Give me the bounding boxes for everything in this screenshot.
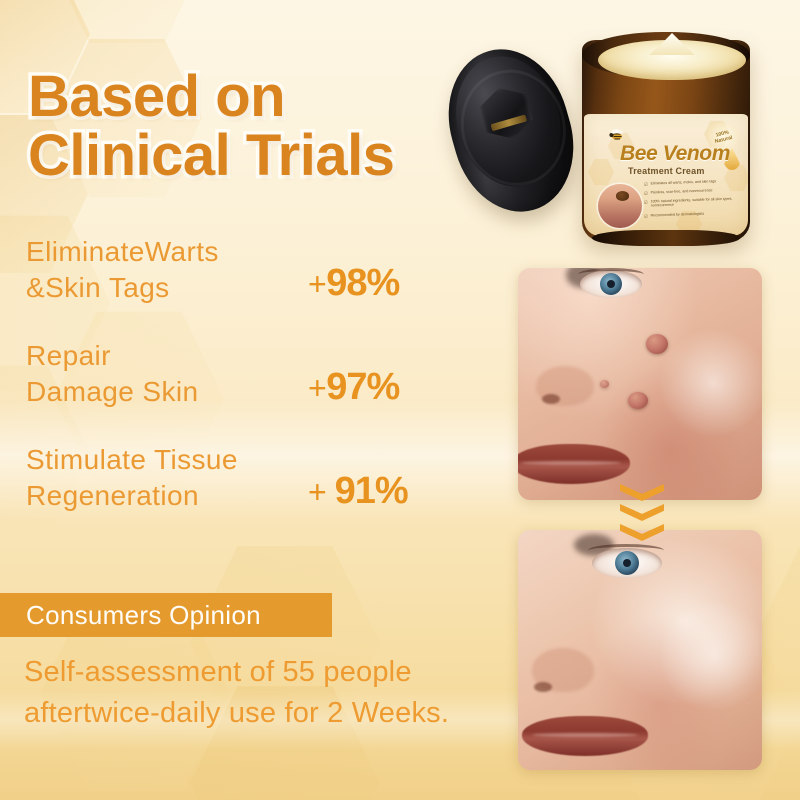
before-treatment-photo — [518, 268, 762, 500]
wart-lower — [628, 392, 648, 409]
cream-contents — [598, 40, 746, 80]
benefit-value: + 91% — [304, 444, 456, 513]
chevron-down-icon — [620, 524, 664, 541]
product-label: 100% Natural Bee Venom Treatment Cream ☑… — [584, 114, 748, 236]
lips — [518, 444, 630, 484]
label-feature-text: Recommended by dermatologists — [651, 211, 705, 218]
cheek-highlight — [658, 600, 762, 712]
benefit-label-line-2: Regeneration — [26, 478, 304, 514]
benefit-percentage: 91% — [335, 470, 408, 512]
jar-lid-surface — [441, 44, 575, 199]
product-subtitle: Treatment Cream — [628, 166, 705, 176]
benefit-label-line-1: Stimulate Tissue — [26, 442, 304, 478]
checkbox-icon: ☑ — [644, 182, 648, 187]
consumers-opinion-banner: Consumers Opinion — [0, 593, 332, 637]
after-treatment-photo — [518, 530, 762, 770]
benefit-value: +97% — [304, 340, 456, 409]
benefit-label-line-1: Repair — [26, 338, 304, 374]
face-before — [518, 268, 762, 500]
jar-mouth — [582, 32, 750, 78]
eyelash — [588, 544, 664, 557]
product-name: Bee Venom — [620, 142, 730, 166]
face-after — [518, 530, 762, 770]
label-feature-item: ☑ Eliminates all warts, moles, and skin … — [644, 178, 744, 186]
nostril — [542, 394, 560, 404]
chevron-down-icon — [620, 504, 664, 521]
benefit-label-line-2: Damage Skin — [26, 374, 304, 410]
eyelash — [578, 268, 644, 281]
jar-lid — [432, 35, 591, 226]
checkbox-icon: ☑ — [644, 213, 648, 218]
benefit-label-line-1: EliminateWarts — [26, 234, 304, 270]
benefit-plus-sign: + — [308, 266, 326, 302]
checkbox-icon: ☑ — [644, 200, 648, 209]
jar-base — [592, 230, 740, 246]
nostril — [534, 682, 552, 692]
label-feature-text: Eliminates all warts, moles, and skin ta… — [651, 179, 717, 186]
checkbox-icon: ☑ — [644, 191, 648, 196]
skin-diagram-illustration — [598, 184, 642, 228]
benefit-label: Repair Damage Skin — [26, 338, 304, 410]
page-title: Based on Clinical Trials — [28, 67, 498, 185]
transition-arrows — [620, 484, 668, 541]
label-feature-list: ☑ Eliminates all warts, moles, and skin … — [644, 180, 744, 221]
label-feature-item: ☑ 100% natural ingredients, suitable for… — [644, 197, 744, 209]
label-feature-text: 100% natural ingredients, suitable for a… — [650, 197, 744, 209]
benefit-value: +98% — [304, 236, 456, 305]
lips — [522, 716, 648, 756]
consumers-opinion-label: Consumers Opinion — [0, 600, 261, 631]
headline-line-2: Clinical Trials — [28, 126, 498, 185]
benefit-row: Stimulate Tissue Regeneration + 91% — [26, 426, 456, 530]
product-image: 100% Natural Bee Venom Treatment Cream ☑… — [440, 10, 790, 260]
benefit-label: EliminateWarts &Skin Tags — [26, 234, 304, 306]
product-marketing-poster: Based on Clinical Trials EliminateWarts … — [0, 0, 800, 800]
cheek-highlight — [658, 328, 762, 438]
bee-icon — [606, 128, 626, 142]
benefit-row: Repair Damage Skin +97% — [26, 322, 456, 426]
wart-upper — [646, 334, 668, 354]
benefit-percentage: 98% — [326, 262, 399, 304]
benefit-percentage: 97% — [326, 366, 399, 408]
label-feature-text: Painless, scar-free, and nonrecurrence — [651, 189, 713, 196]
benefits-list: EliminateWarts &Skin Tags +98% Repair Da… — [26, 218, 456, 530]
benefit-plus-sign: + — [308, 370, 326, 406]
chevron-down-icon — [620, 484, 664, 501]
jar-container: 100% Natural Bee Venom Treatment Cream ☑… — [576, 22, 756, 246]
benefit-label: Stimulate Tissue Regeneration — [26, 442, 304, 514]
mole-illustration — [616, 191, 629, 201]
benefit-row: EliminateWarts &Skin Tags +98% — [26, 218, 456, 322]
benefit-label-line-2: &Skin Tags — [26, 270, 304, 306]
headline-line-1: Based on — [28, 67, 498, 126]
benefit-plus-sign: + — [308, 474, 335, 510]
label-feature-item: ☑ Painless, scar-free, and nonrecurrence — [644, 187, 744, 195]
wart-small — [600, 380, 609, 388]
self-assessment-note: Self-assessment of 55 people aftertwice-… — [24, 652, 464, 734]
label-feature-item: ☑ Recommended by dermatologists — [644, 210, 744, 218]
cream-peak — [649, 33, 695, 55]
